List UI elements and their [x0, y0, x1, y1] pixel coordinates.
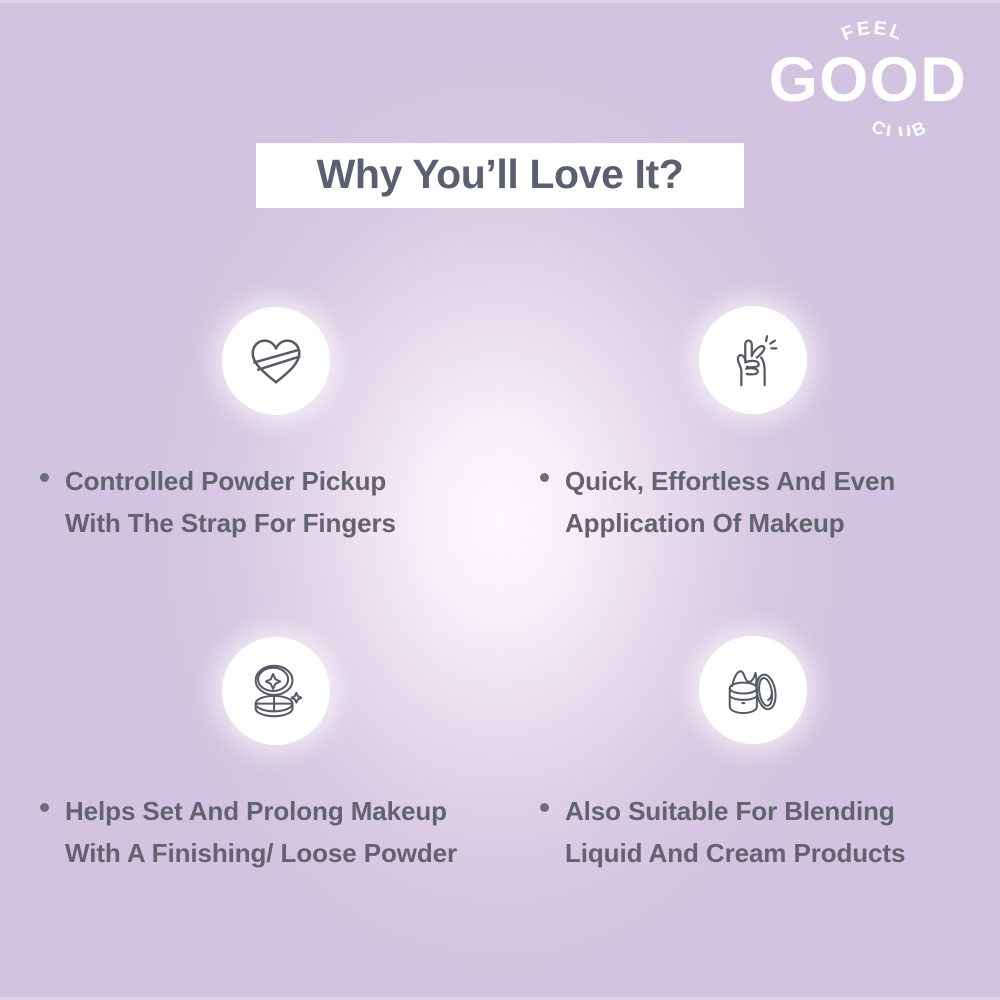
section-title-banner: Why You’ll Love It?	[256, 143, 744, 208]
bullet-icon	[540, 803, 549, 812]
logo-feel-text: FEEL	[839, 18, 907, 45]
page-title: Why You’ll Love It?	[317, 154, 684, 195]
feature-label: Also Suitable For Blending Liquid And Cr…	[565, 790, 905, 874]
feel-good-club-logo-icon: FEEL GOOD CLUB	[758, 18, 978, 136]
feature-item-4: Also Suitable For Blending Liquid And Cr…	[500, 610, 1000, 920]
feature-icon-badge	[222, 637, 330, 745]
brand-logo: FEEL GOOD CLUB	[758, 18, 978, 136]
promo-poster: FEEL GOOD CLUB Why You’ll Love It?	[0, 0, 1000, 1000]
feature-grid: Controlled Powder Pickup With The Strap …	[0, 280, 1000, 920]
logo-good-text: GOOD	[769, 45, 968, 115]
feature-label: Helps Set And Prolong Makeup With A Fini…	[65, 790, 457, 874]
bullet-icon	[40, 473, 49, 482]
feature-item-3: Helps Set And Prolong Makeup With A Fini…	[0, 610, 500, 920]
feature-icon-badge	[699, 306, 807, 414]
feature-item-2: Quick, Effortless And Even Application O…	[500, 280, 1000, 610]
feature-label: Controlled Powder Pickup With The Strap …	[65, 460, 396, 544]
heart-puff-strap-icon	[245, 330, 307, 392]
feature-item-1: Controlled Powder Pickup With The Strap …	[0, 280, 500, 610]
logo-club-text: CLUB	[869, 116, 932, 136]
bullet-icon	[40, 803, 49, 812]
feature-icon-badge	[699, 636, 807, 744]
feature-text-block: Quick, Effortless And Even Application O…	[540, 460, 990, 544]
compact-powder-case-icon	[245, 660, 307, 722]
snapping-fingers-icon	[722, 329, 784, 391]
feature-text-block: Controlled Powder Pickup With The Strap …	[40, 460, 500, 544]
feature-label: Quick, Effortless And Even Application O…	[565, 460, 895, 544]
feature-icon-badge	[222, 307, 330, 415]
feature-text-block: Also Suitable For Blending Liquid And Cr…	[540, 790, 990, 874]
bullet-icon	[540, 473, 549, 482]
cream-jar-icon	[722, 659, 784, 721]
feature-text-block: Helps Set And Prolong Makeup With A Fini…	[40, 790, 500, 874]
